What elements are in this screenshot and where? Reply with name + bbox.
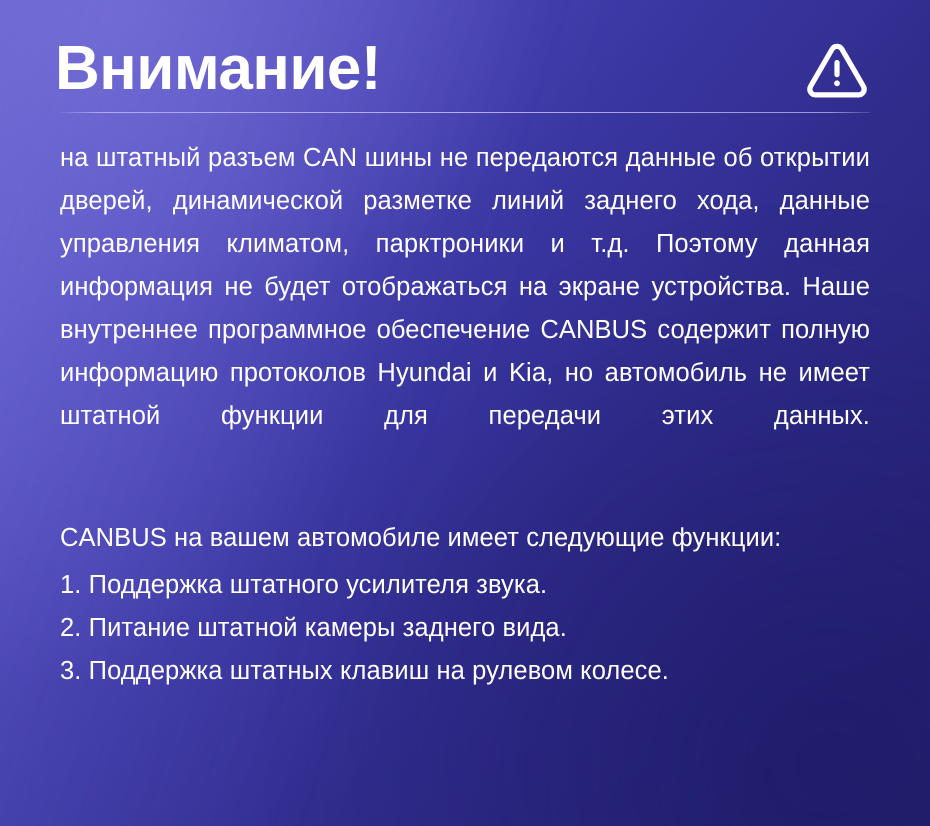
features-list: 1. Поддержка штатного усилителя звука. 2…: [60, 564, 870, 693]
notice-header: Внимание!: [50, 0, 880, 88]
warning-triangle-icon: [805, 41, 869, 98]
notice-content: Внимание! на штатный разъем CAN шины не …: [0, 0, 930, 693]
features-intro: CANBUS на вашем автомобиле имеет следующ…: [60, 517, 870, 560]
notice-paragraph: на штатный разъем CAN шины не передаются…: [60, 137, 870, 481]
warning-notice-card: Внимание! на штатный разъем CAN шины не …: [0, 0, 930, 826]
features-section: CANBUS на вашем автомобиле имеет следующ…: [50, 517, 880, 693]
list-item: 3. Поддержка штатных клавиш на рулевом к…: [60, 650, 870, 693]
list-item: 1. Поддержка штатного усилителя звука.: [60, 564, 870, 607]
header-divider: [60, 112, 870, 113]
list-item: 2. Питание штатной камеры заднего вида.: [60, 607, 870, 650]
page-title: Внимание!: [55, 38, 381, 100]
notice-body: на штатный разъем CAN шины не передаются…: [50, 137, 880, 481]
